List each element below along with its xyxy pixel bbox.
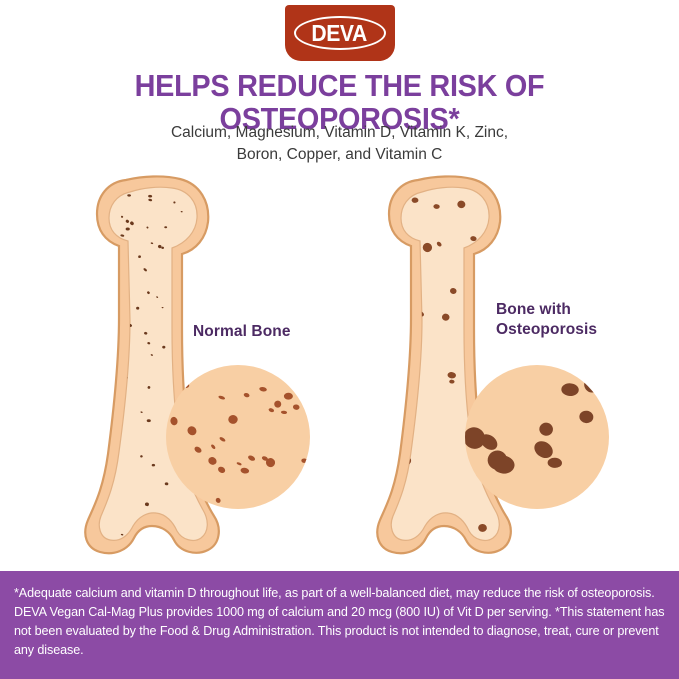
trabecula bbox=[53, 355, 58, 361]
trabecula bbox=[311, 311, 331, 331]
trabecula bbox=[24, 452, 29, 458]
logo-badge-shape: DEVA bbox=[285, 5, 395, 61]
ingredient-subtitle-line-1: Calcium, Magnesium, Vitamin D, Vitamin K… bbox=[0, 122, 679, 144]
trabecula bbox=[357, 448, 369, 463]
trabecula bbox=[36, 272, 39, 275]
trabecula bbox=[384, 256, 395, 267]
trabecula bbox=[83, 210, 88, 215]
trabecula bbox=[34, 392, 38, 401]
trabecula bbox=[100, 362, 105, 369]
trabecula bbox=[355, 285, 379, 309]
trabecula bbox=[51, 531, 55, 534]
trabecula bbox=[311, 289, 332, 310]
trabecula bbox=[13, 480, 22, 490]
trabecula bbox=[79, 286, 84, 291]
trabecula bbox=[256, 260, 262, 267]
trabecula bbox=[93, 263, 99, 269]
trabecula bbox=[45, 299, 54, 307]
trabecula bbox=[10, 405, 13, 408]
trabecula bbox=[44, 432, 55, 443]
trabecula bbox=[300, 267, 324, 288]
trabecula bbox=[315, 502, 325, 510]
trabecula bbox=[86, 342, 88, 344]
trabecula bbox=[13, 303, 17, 308]
trabecula bbox=[110, 275, 113, 278]
trabecula bbox=[72, 353, 77, 362]
trabecula bbox=[17, 496, 21, 499]
trabecula bbox=[49, 289, 52, 292]
trabecula bbox=[84, 241, 87, 243]
trabecula bbox=[78, 294, 87, 305]
trabecula bbox=[79, 402, 87, 410]
trabecula bbox=[36, 291, 38, 294]
disclaimer-banner: *Adequate calcium and vitamin D througho… bbox=[0, 571, 679, 679]
trabecula bbox=[48, 417, 56, 427]
trabecula bbox=[31, 277, 43, 289]
trabecula bbox=[358, 463, 370, 475]
trabecula bbox=[312, 253, 330, 268]
trabecula bbox=[333, 405, 342, 414]
trabecula bbox=[322, 207, 331, 217]
trabecula bbox=[298, 387, 306, 393]
trabecula bbox=[162, 346, 165, 349]
trabecula bbox=[67, 411, 79, 424]
trabecula bbox=[367, 391, 387, 413]
trabecula bbox=[63, 507, 69, 514]
trabecula bbox=[377, 258, 388, 269]
trabecula bbox=[67, 303, 79, 314]
trabecula bbox=[93, 445, 97, 448]
trabecula bbox=[100, 365, 104, 368]
trabecula bbox=[67, 380, 77, 390]
trabecula bbox=[71, 395, 74, 398]
trabecula bbox=[34, 486, 39, 492]
trabecula bbox=[369, 352, 380, 363]
trabecula bbox=[51, 375, 61, 386]
trabecula bbox=[93, 243, 97, 246]
trabecula bbox=[285, 254, 297, 267]
trabecula bbox=[220, 280, 226, 287]
trabecula bbox=[11, 348, 15, 354]
trabecula bbox=[372, 192, 382, 203]
trabecula bbox=[22, 224, 26, 228]
trabecula bbox=[81, 463, 94, 476]
trabecula bbox=[340, 320, 348, 328]
trabecula bbox=[351, 311, 376, 335]
trabecula bbox=[53, 304, 57, 308]
trabecula bbox=[65, 313, 75, 323]
disclaimer-text: *Adequate calcium and vitamin D througho… bbox=[14, 584, 667, 661]
trabecula bbox=[323, 245, 333, 256]
trabecula bbox=[29, 343, 36, 352]
trabecula bbox=[18, 329, 23, 334]
trabecula bbox=[13, 208, 15, 211]
trabecula bbox=[66, 401, 69, 404]
trabecula bbox=[86, 453, 90, 456]
osteoporosis-bone-label-line-2: Osteoporosis bbox=[496, 320, 597, 340]
trabecula bbox=[331, 427, 349, 444]
trabecula bbox=[47, 235, 51, 239]
trabecula bbox=[143, 561, 146, 563]
trabecula bbox=[85, 355, 88, 357]
trabecula bbox=[343, 224, 354, 235]
trabecula bbox=[80, 201, 82, 203]
trabecula bbox=[308, 463, 319, 474]
trabecula bbox=[251, 226, 256, 233]
trabecula bbox=[60, 187, 64, 191]
trabecula bbox=[39, 530, 43, 534]
trabecula bbox=[343, 444, 352, 453]
trabecula bbox=[47, 320, 50, 323]
trabecula bbox=[96, 477, 101, 481]
trabecula bbox=[16, 380, 21, 384]
trabecula bbox=[271, 535, 281, 544]
trabecula bbox=[26, 205, 31, 210]
trabecula bbox=[45, 254, 58, 267]
trabecula bbox=[66, 304, 71, 310]
trabecula bbox=[4, 315, 6, 318]
trabecula bbox=[2, 385, 11, 393]
trabecula bbox=[98, 392, 107, 403]
trabecula bbox=[44, 180, 47, 183]
brand-logo: DEVA bbox=[0, 5, 679, 63]
trabecula bbox=[43, 389, 47, 393]
trabecula bbox=[333, 399, 341, 405]
trabecula bbox=[342, 206, 352, 216]
trabecula bbox=[48, 308, 53, 313]
trabecula bbox=[110, 298, 115, 303]
trabecula bbox=[22, 319, 26, 323]
trabecula bbox=[72, 272, 75, 275]
trabecula bbox=[203, 247, 206, 250]
trabecula bbox=[250, 186, 258, 192]
trabecula bbox=[90, 482, 98, 491]
trabecula bbox=[337, 460, 351, 480]
trabecula bbox=[43, 197, 45, 199]
trabecula bbox=[310, 348, 324, 362]
trabecula bbox=[80, 529, 83, 531]
trabecula bbox=[344, 426, 365, 448]
trabecula bbox=[55, 359, 59, 362]
trabecula bbox=[115, 170, 123, 180]
trabecula bbox=[350, 234, 361, 246]
trabecula bbox=[83, 198, 93, 209]
trabecula bbox=[61, 168, 69, 175]
trabecula bbox=[85, 468, 93, 477]
trabecula bbox=[7, 370, 10, 376]
logo-oval-outline: DEVA bbox=[294, 16, 386, 50]
trabecula bbox=[372, 440, 390, 460]
trabecula bbox=[94, 445, 98, 453]
trabecula bbox=[90, 183, 94, 186]
ingredient-subtitle-line-2: Boron, Copper, and Vitamin C bbox=[0, 144, 679, 166]
trabecula bbox=[19, 277, 22, 281]
trabecula bbox=[337, 422, 350, 440]
trabecula bbox=[296, 356, 306, 366]
trabecula bbox=[105, 250, 108, 252]
trabecula bbox=[290, 254, 298, 262]
trabecula bbox=[0, 324, 7, 334]
trabecula bbox=[62, 311, 76, 325]
trabecula bbox=[35, 445, 42, 452]
trabecula bbox=[72, 433, 76, 437]
trabecula bbox=[345, 447, 364, 467]
trabecula bbox=[352, 173, 364, 182]
trabecula bbox=[377, 454, 391, 470]
trabecula bbox=[78, 289, 80, 292]
trabecula bbox=[368, 290, 377, 300]
trabecula bbox=[93, 244, 96, 246]
trabecula bbox=[358, 352, 384, 378]
trabecula bbox=[352, 508, 363, 517]
ingredient-subtitle: Calcium, Magnesium, Vitamin D, Vitamin K… bbox=[0, 122, 679, 166]
trabecula bbox=[41, 399, 50, 406]
osteoporosis-bone-label-line-1: Bone with bbox=[496, 300, 597, 320]
trabecula bbox=[335, 442, 365, 472]
trabecula bbox=[260, 253, 268, 262]
trabecula bbox=[337, 263, 349, 275]
trabecula bbox=[343, 230, 351, 239]
osteoporosis-infographic: DEVA HELPS REDUCE THE RISK OF OSTEOPOROS… bbox=[0, 0, 679, 679]
trabecula bbox=[329, 208, 337, 217]
trabecula bbox=[459, 555, 483, 568]
trabecula bbox=[1, 315, 5, 320]
trabecula bbox=[55, 290, 59, 294]
trabecula bbox=[0, 279, 5, 284]
osteoporosis-bone-label: Bone with Osteoporosis bbox=[496, 300, 597, 341]
trabecula bbox=[13, 367, 17, 374]
trabecula bbox=[25, 216, 27, 219]
trabecula bbox=[347, 401, 375, 431]
trabecula bbox=[106, 299, 109, 302]
trabecula bbox=[392, 339, 408, 352]
trabecula bbox=[113, 556, 116, 558]
trabecula bbox=[44, 290, 53, 298]
trabecula bbox=[100, 387, 108, 398]
trabecula bbox=[18, 280, 21, 283]
trabecula bbox=[0, 393, 6, 401]
trabecula bbox=[368, 256, 374, 266]
trabecula bbox=[374, 264, 386, 275]
trabecula bbox=[363, 329, 383, 348]
trabecula bbox=[62, 446, 67, 452]
trabecula bbox=[31, 278, 36, 283]
trabecula bbox=[338, 419, 360, 441]
trabecula bbox=[319, 456, 326, 463]
trabecula bbox=[85, 435, 91, 441]
trabecula bbox=[79, 214, 84, 217]
trabecula bbox=[0, 357, 4, 368]
logo-wordmark: DEVA bbox=[312, 22, 367, 45]
trabecula bbox=[432, 526, 458, 553]
trabecula bbox=[224, 217, 232, 225]
trabecula bbox=[80, 384, 83, 387]
trabecula bbox=[59, 281, 63, 285]
trabecula bbox=[21, 205, 29, 215]
trabecula bbox=[45, 217, 48, 220]
trabecula bbox=[58, 280, 60, 282]
trabecula bbox=[352, 502, 361, 511]
trabecula bbox=[14, 170, 18, 173]
trabecula bbox=[99, 360, 103, 366]
trabecula bbox=[386, 331, 404, 346]
normal-bone-label: Normal Bone bbox=[193, 322, 291, 342]
trabecula bbox=[23, 235, 25, 237]
trabecula bbox=[45, 348, 49, 352]
trabecula bbox=[239, 341, 251, 354]
trabecula bbox=[256, 293, 262, 300]
trabecula bbox=[1, 191, 3, 194]
normal-bone-figure bbox=[0, 168, 219, 568]
trabecula bbox=[82, 184, 85, 187]
trabecula bbox=[49, 295, 53, 299]
trabecula bbox=[346, 206, 353, 214]
trabecula bbox=[4, 320, 7, 323]
trabecula bbox=[53, 296, 57, 300]
trabecula bbox=[33, 298, 39, 303]
trabecula bbox=[15, 334, 25, 340]
trabecula bbox=[337, 499, 355, 518]
trabecula bbox=[54, 276, 57, 280]
trabecula bbox=[73, 356, 84, 365]
trabecula bbox=[54, 227, 57, 230]
trabecula bbox=[24, 394, 30, 404]
trabecula bbox=[357, 483, 367, 497]
trabecula bbox=[353, 549, 363, 558]
trabecula bbox=[38, 249, 42, 254]
trabecula bbox=[96, 264, 100, 267]
trabecula bbox=[236, 521, 242, 526]
trabecula bbox=[349, 302, 356, 309]
trabecula bbox=[308, 286, 320, 298]
trabecula bbox=[372, 184, 378, 191]
trabecula bbox=[111, 339, 114, 342]
trabecula bbox=[45, 251, 47, 254]
trabecula bbox=[214, 241, 219, 247]
trabecula bbox=[316, 183, 324, 192]
trabecula bbox=[253, 176, 260, 184]
trabecula bbox=[90, 336, 95, 340]
trabecula bbox=[303, 231, 310, 238]
trabecula bbox=[92, 468, 95, 470]
trabecula bbox=[88, 270, 96, 277]
trabecula bbox=[52, 247, 55, 251]
trabecula bbox=[6, 319, 14, 327]
trabecula bbox=[72, 209, 74, 212]
trabecula bbox=[311, 397, 336, 421]
trabecula bbox=[84, 176, 87, 179]
trabecula bbox=[66, 173, 71, 178]
trabecula bbox=[75, 168, 79, 172]
trabecula bbox=[62, 441, 69, 448]
trabecula bbox=[12, 268, 21, 273]
trabecula bbox=[77, 172, 80, 175]
trabecula bbox=[77, 326, 82, 331]
trabecula bbox=[338, 291, 369, 319]
trabecula bbox=[281, 222, 289, 231]
trabecula bbox=[284, 230, 294, 240]
trabecula bbox=[11, 253, 13, 256]
bone-illustration-svg bbox=[0, 168, 679, 568]
trabecula bbox=[4, 175, 7, 178]
trabecula bbox=[36, 446, 42, 453]
trabecula bbox=[8, 332, 10, 335]
trabecula bbox=[38, 485, 43, 491]
trabecula bbox=[29, 176, 33, 180]
trabecula bbox=[65, 382, 70, 388]
trabecula bbox=[152, 464, 155, 467]
trabecula bbox=[321, 372, 346, 399]
trabecula bbox=[89, 387, 95, 394]
trabecula bbox=[350, 410, 357, 416]
trabecula bbox=[74, 312, 77, 315]
trabecula bbox=[41, 405, 45, 409]
trabecula bbox=[363, 436, 380, 457]
trabecula bbox=[92, 378, 95, 383]
trabecula bbox=[103, 297, 110, 303]
trabecula bbox=[38, 379, 42, 386]
trabecula bbox=[375, 278, 398, 300]
trabecula bbox=[90, 565, 95, 568]
bone-comparison-illustration bbox=[0, 168, 679, 568]
trabecula bbox=[279, 259, 289, 269]
normal-bone-label-text: Normal Bone bbox=[193, 322, 291, 342]
trabecula bbox=[19, 204, 22, 208]
trabecula bbox=[64, 199, 67, 202]
trabecula bbox=[5, 389, 12, 396]
trabecula bbox=[385, 375, 393, 382]
trabecula bbox=[0, 401, 3, 405]
trabecula bbox=[89, 359, 94, 364]
trabecula bbox=[234, 224, 245, 236]
trabecula bbox=[36, 303, 40, 307]
trabecula bbox=[21, 265, 26, 270]
trabecula bbox=[112, 266, 116, 269]
trabecula bbox=[261, 188, 271, 198]
trabecula bbox=[44, 243, 46, 246]
trabecula bbox=[195, 168, 204, 174]
trabecula bbox=[81, 525, 84, 527]
trabecula bbox=[78, 407, 82, 410]
trabecula bbox=[43, 366, 54, 377]
trabecula bbox=[76, 219, 84, 229]
trabecula bbox=[350, 232, 358, 240]
trabecula bbox=[37, 439, 41, 444]
trabecula bbox=[519, 511, 536, 524]
trabecula bbox=[355, 469, 365, 479]
trabecula bbox=[18, 288, 20, 290]
trabecula bbox=[94, 381, 99, 385]
trabecula bbox=[15, 331, 23, 340]
trabecula bbox=[383, 247, 394, 258]
trabecula bbox=[83, 352, 87, 356]
trabecula bbox=[0, 541, 2, 544]
trabecula bbox=[206, 186, 216, 197]
trabecula bbox=[10, 427, 20, 437]
trabecula bbox=[318, 367, 330, 383]
